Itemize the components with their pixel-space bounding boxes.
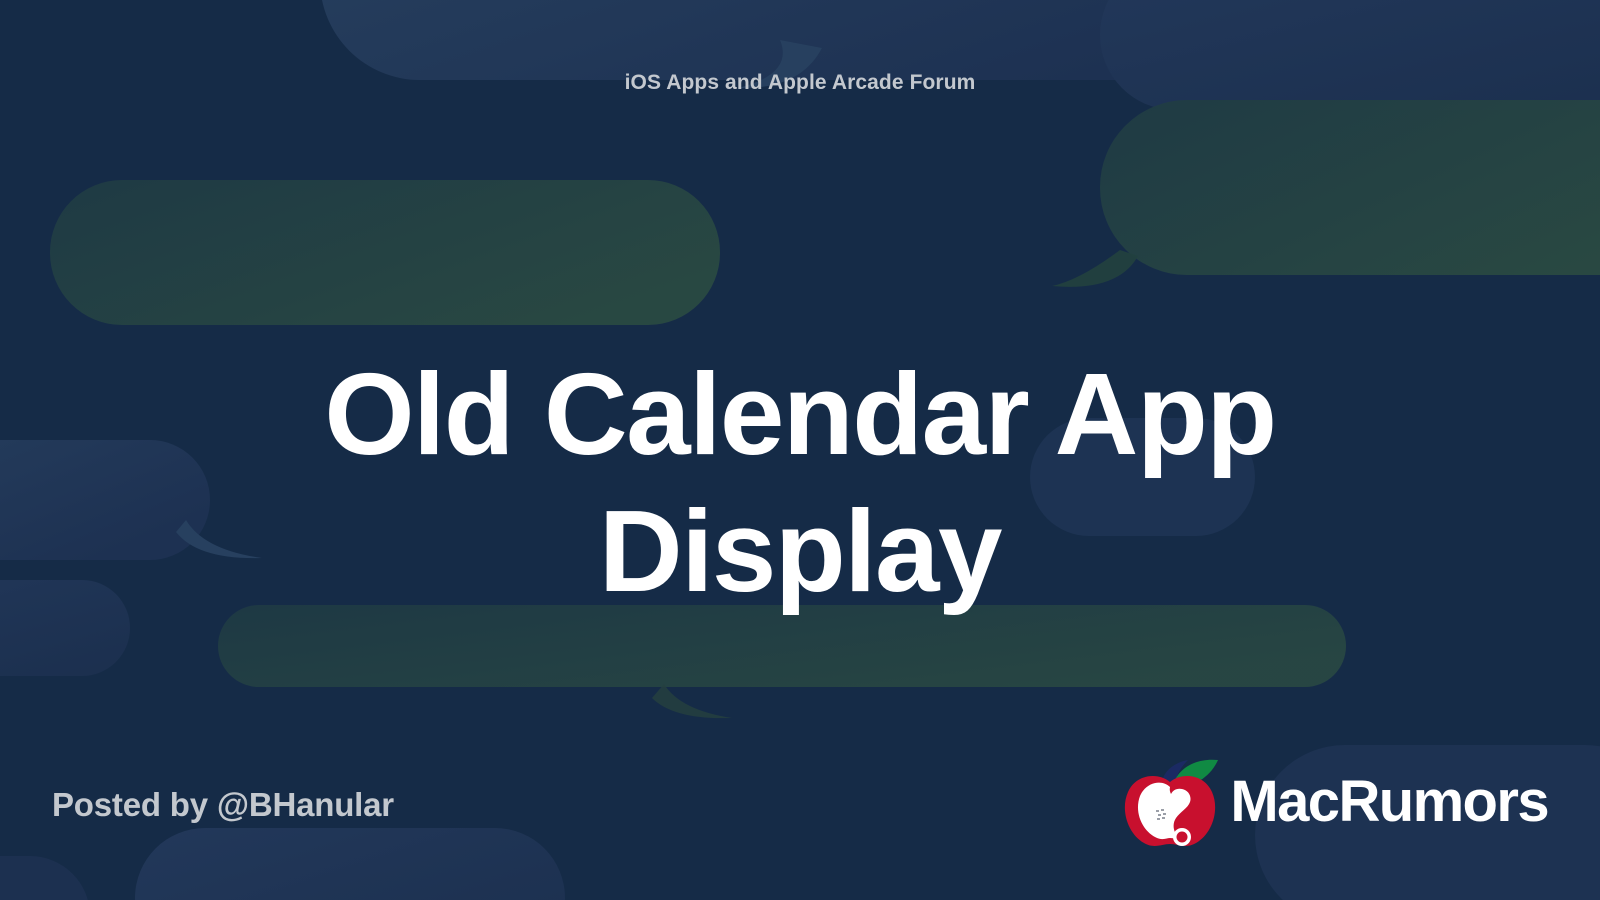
posted-by-label: Posted by @BHanular <box>52 786 394 824</box>
macrumors-brand: MacRumors <box>1118 754 1548 850</box>
page-title: Old Calendar App Display <box>240 346 1360 620</box>
social-share-card: iOS Apps and Apple Arcade Forum Old Cale… <box>0 0 1600 900</box>
card-footer: Posted by @BHanular <box>0 710 1600 900</box>
card-content: iOS Apps and Apple Arcade Forum Old Cale… <box>0 0 1600 900</box>
macrumors-apple-logo <box>1118 754 1224 850</box>
brand-wordmark: MacRumors <box>1230 773 1548 831</box>
